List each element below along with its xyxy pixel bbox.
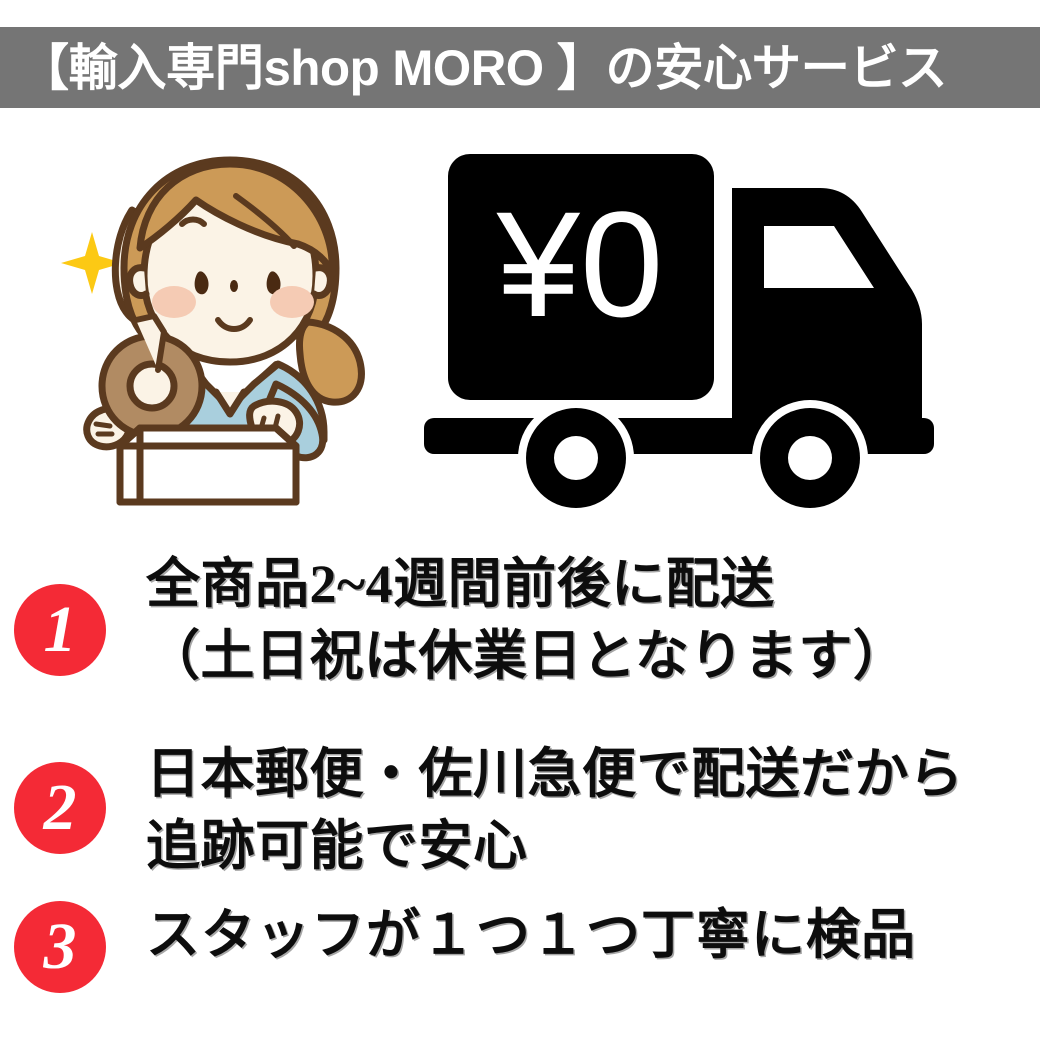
benefit-item-3: 3 スタッフが１つ１つ丁寧に検品	[0, 893, 1040, 993]
header-banner: 【輸入専門shop MORO 】の安心サービス	[0, 27, 1040, 108]
free-shipping-truck-icon: ¥0	[420, 140, 1000, 520]
woman-packing-box-illustration	[40, 140, 420, 520]
benefit-item-1: 1 全商品2~4週間前後に配送 （土日祝は休業日となります）	[0, 548, 1040, 693]
benefit-text-1: 全商品2~4週間前後に配送 （土日祝は休業日となります）	[146, 548, 1040, 693]
benefit-number-badge-1: 1	[14, 584, 106, 676]
cargo-price-label: ¥0	[496, 180, 664, 348]
benefit-number-badge-2: 2	[14, 762, 106, 854]
benefit-number-badge-3: 3	[14, 901, 106, 993]
benefit-text-3: スタッフが１つ１つ丁寧に検品	[146, 899, 1040, 971]
illustration-row: ¥0	[0, 120, 1040, 520]
benefit-item-2: 2 日本郵便・佐川急便で配送だから 追跡可能で安心	[0, 738, 1040, 883]
page-title: 【輸入専門shop MORO 】の安心サービス	[0, 43, 947, 93]
benefit-text-2: 日本郵便・佐川急便で配送だから 追跡可能で安心	[146, 738, 1040, 883]
